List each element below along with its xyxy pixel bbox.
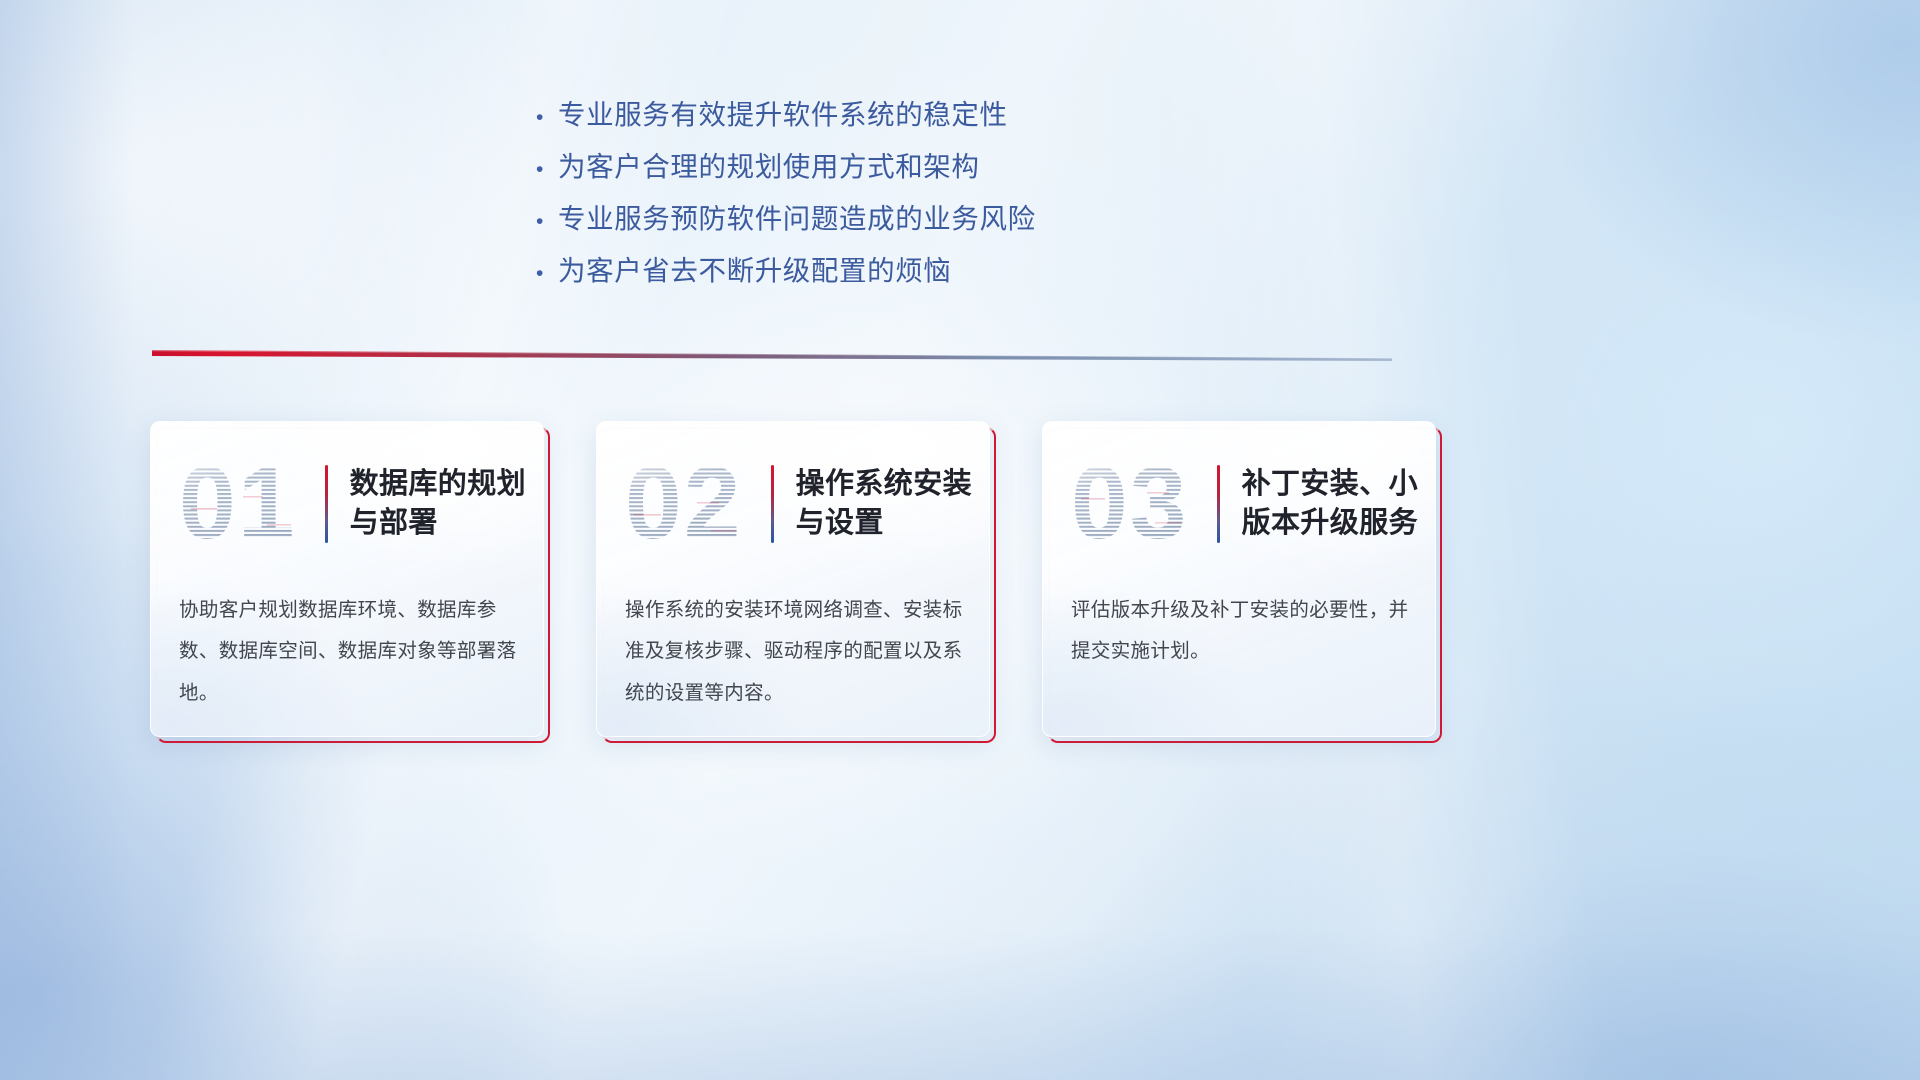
list-item: • 专业服务有效提升软件系统的稳定性 [536,92,1156,144]
card-title: 操作系统安装与设置 [796,465,984,542]
list-item-label: 专业服务有效提升软件系统的稳定性 [558,92,1008,132]
card-header: 01 数据库的规划与部署 [151,448,544,560]
service-card-01[interactable]: 01 数据库的规划与部署 协助客户规划数据库环境、数据库参数、数据库空间、数据库… [150,421,548,741]
card-surface: 01 数据库的规划与部署 协助客户规划数据库环境、数据库参数、数据库空间、数据库… [150,421,544,737]
card-accent-rule [1217,465,1220,543]
service-card-03[interactable]: 03 补丁安装、小版本升级服务 评估版本升级及补丁安装的必要性，并提交实施计划。 [1042,421,1440,741]
service-card-list: 01 数据库的规划与部署 协助客户规划数据库环境、数据库参数、数据库空间、数据库… [150,421,1770,743]
list-item: • 为客户合理的规划使用方式和架构 [536,144,1156,196]
card-surface: 03 补丁安装、小版本升级服务 评估版本升级及补丁安装的必要性，并提交实施计划。 [1042,421,1436,737]
card-description: 操作系统的安装环境网络调查、安装标准及复核步骤、驱动程序的配置以及系统的设置等内… [625,590,965,714]
card-number-watermark-02: 02 [623,452,771,556]
section-divider [152,348,1392,364]
card-number-watermark-01: 01 [177,452,325,556]
card-header: 02 操作系统安装与设置 [597,448,990,560]
card-description: 协助客户规划数据库环境、数据库参数、数据库空间、数据库对象等部署落地。 [179,590,519,714]
svg-text:02: 02 [625,452,742,556]
bullet-dot-icon: • [536,159,558,180]
card-header: 03 补丁安装、小版本升级服务 [1043,448,1436,560]
card-title: 数据库的规划与部署 [350,465,538,542]
card-title: 补丁安装、小版本升级服务 [1242,465,1430,542]
svg-text:03: 03 [1071,452,1188,556]
list-item-label: 专业服务预防软件问题造成的业务风险 [558,196,1036,236]
card-number-watermark-03: 03 [1069,452,1217,556]
list-item: • 为客户省去不断升级配置的烦恼 [536,248,1156,300]
list-item-label: 为客户省去不断升级配置的烦恼 [558,248,951,288]
card-accent-rule [771,465,774,543]
service-card-02[interactable]: 02 操作系统安装与设置 操作系统的安装环境网络调查、安装标准及复核步骤、驱动程… [596,421,994,741]
svg-text:01: 01 [179,452,296,556]
card-description: 评估版本升级及补丁安装的必要性，并提交实施计划。 [1071,590,1411,673]
bullet-dot-icon: • [536,107,558,128]
key-points-list: • 专业服务有效提升软件系统的稳定性 • 为客户合理的规划使用方式和架构 • 专… [536,92,1156,300]
list-item-label: 为客户合理的规划使用方式和架构 [558,144,980,184]
bullet-dot-icon: • [536,211,558,232]
bullet-dot-icon: • [536,263,558,284]
slide-canvas: • 专业服务有效提升软件系统的稳定性 • 为客户合理的规划使用方式和架构 • 专… [0,0,1920,1080]
card-accent-rule [325,465,328,543]
card-surface: 02 操作系统安装与设置 操作系统的安装环境网络调查、安装标准及复核步骤、驱动程… [596,421,990,737]
list-item: • 专业服务预防软件问题造成的业务风险 [536,196,1156,248]
